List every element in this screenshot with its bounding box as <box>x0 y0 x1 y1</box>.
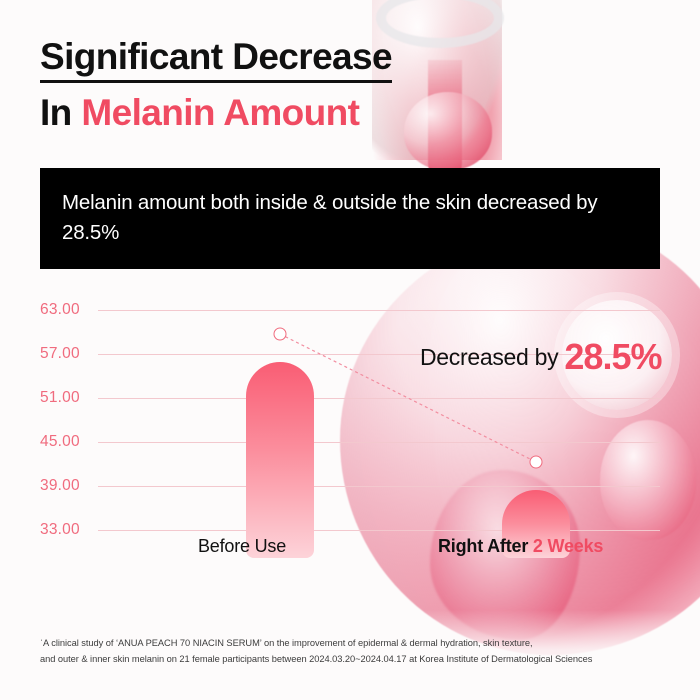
x-axis-label-highlight: 2 Weeks <box>533 536 603 556</box>
headline-line-2-accent: Melanin Amount <box>81 92 359 133</box>
clinical-study-footnote: ˈA clinical study of ‘ANUA PEACH 70 NIAC… <box>40 636 670 668</box>
headline-line-2-prefix: In <box>40 92 81 133</box>
decrease-annotation-prefix: Decreased by <box>420 344 564 370</box>
y-axis-tick-label: 51.00 <box>40 389 94 407</box>
y-axis-tick-label: 33.00 <box>40 521 94 539</box>
headline-line-2: In Melanin Amount <box>40 92 392 133</box>
infographic-page: Significant Decrease In Melanin Amount M… <box>0 0 700 700</box>
footnote-line-1: ˈA clinical study of ‘ANUA PEACH 70 NIAC… <box>40 636 670 652</box>
summary-banner: Melanin amount both inside & outside the… <box>40 168 660 269</box>
y-axis-tick-label: 39.00 <box>40 477 94 495</box>
y-axis-tick-label: 57.00 <box>40 345 94 363</box>
glass-bulb-image <box>404 92 492 170</box>
summary-banner-text: Melanin amount both inside & outside the… <box>62 188 638 247</box>
y-axis-tick-label: 63.00 <box>40 301 94 319</box>
footnote-line-2: and outer & inner skin melanin on 21 fem… <box>40 652 670 668</box>
chart-plot-area: Before Use Right After 2 Weeks <box>98 288 660 558</box>
x-axis-label-before-use: Before Use <box>198 536 286 557</box>
headline-line-1: Significant Decrease <box>40 36 392 83</box>
x-axis-label-prefix: Right After <box>438 536 533 556</box>
data-point-right-after-2-weeks <box>530 456 543 469</box>
x-axis-label-right-after-2-weeks: Right After 2 Weeks <box>438 536 603 557</box>
decrease-annotation-value: 28.5% <box>564 336 661 377</box>
data-point-before-use <box>274 328 287 341</box>
decrease-annotation: Decreased by 28.5% <box>420 336 661 378</box>
trend-connector-line <box>98 288 660 558</box>
page-title: Significant Decrease In Melanin Amount <box>40 36 392 134</box>
y-axis-tick-label: 45.00 <box>40 433 94 451</box>
melanin-bar-chart: 63.00 57.00 51.00 45.00 39.00 33.00 Befo… <box>40 288 660 558</box>
bar-before-use <box>246 362 314 558</box>
